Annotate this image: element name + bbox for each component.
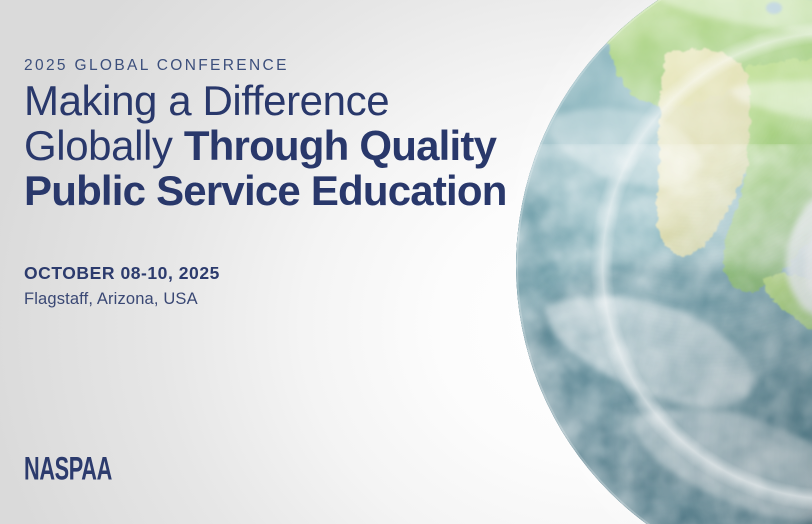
globe-shading <box>516 0 812 524</box>
globe-edge-feather <box>502 0 812 524</box>
headline-line-1: Making a Difference <box>24 78 524 123</box>
event-details: OCTOBER 08-10, 2025 Flagstaff, Arizona, … <box>24 263 220 309</box>
globe-rim <box>516 0 812 524</box>
conference-banner: 2025 GLOBAL CONFERENCE Making a Differen… <box>0 0 812 524</box>
event-date: OCTOBER 08-10, 2025 <box>24 263 220 284</box>
banner-content: 2025 GLOBAL CONFERENCE Making a Differen… <box>24 0 524 524</box>
naspaa-logo: NASPAA <box>24 452 144 488</box>
headline-line-3-text: Public Service Education <box>24 167 507 214</box>
globe-image <box>516 0 812 524</box>
headline-line-2-light-text: Globally <box>24 122 184 169</box>
event-location: Flagstaff, Arizona, USA <box>24 290 220 309</box>
naspaa-logo-wordmark: NASPAA <box>24 451 108 487</box>
eyebrow-text: 2025 GLOBAL CONFERENCE <box>24 57 289 75</box>
page-title: Making a Difference Globally Through Qua… <box>24 78 524 213</box>
globe-surface <box>516 0 812 524</box>
headline-line-2: Globally Through Quality <box>24 123 524 168</box>
headline-line-1-text: Making a Difference <box>24 77 389 124</box>
headline-line-2-bold-text: Through Quality <box>184 122 496 169</box>
headline-line-3: Public Service Education <box>24 168 524 213</box>
globe-sphere <box>516 0 812 524</box>
